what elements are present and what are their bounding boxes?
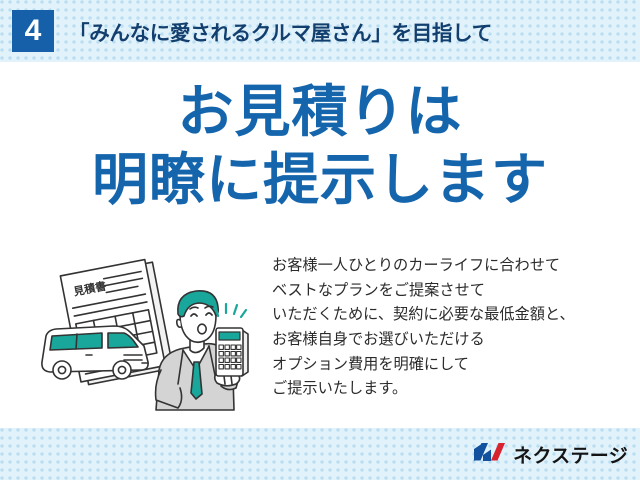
page-title: 「みんなに愛されるクルマ屋さん」を目指して [69,16,492,46]
brand-footer: ネクステージ [0,428,640,480]
sparkle [216,304,246,317]
content-card: お見積りは 明瞭に提示します お客様一人ひとりのカーライフに合わせて ベストなプ… [0,62,640,428]
calculator [216,328,248,376]
header: 4 「みんなに愛されるクルマ屋さん」を目指して [0,0,640,62]
headline-line-1: お見積りは [0,78,640,146]
body-copy: お客様一人ひとりのカーライフに合わせて ベストなプランをご提案させて いただくた… [272,254,575,402]
salesman-estimate-illustration: 見積書 [28,258,268,418]
body-copy-line-5: オプション費用を明確にして [272,353,575,378]
headline: お見積りは 明瞭に提示します [0,78,640,215]
body-copy-line-1: お客様一人ひとりのカーライフに合わせて [272,254,575,279]
section-number-badge: 4 [12,10,54,52]
nextstage-n-logo-icon [472,440,506,469]
headline-line-2: 明瞭に提示します [0,146,640,214]
poster-banner: お見積りは 明瞭に提示します お客様一人ひとりのカーライフに合わせて ベストなプ… [0,0,640,480]
body-copy-line-3: いただくために、契約に必要な最低金額と、 [272,303,575,328]
body-copy-line-2: ベストなプランをご提案させて [272,279,575,304]
body-copy-line-6: ご提示いたします。 [272,377,575,402]
body-copy-line-4: お客様自身でお選びいただける [272,328,575,353]
brand-name: ネクステージ [513,441,628,468]
